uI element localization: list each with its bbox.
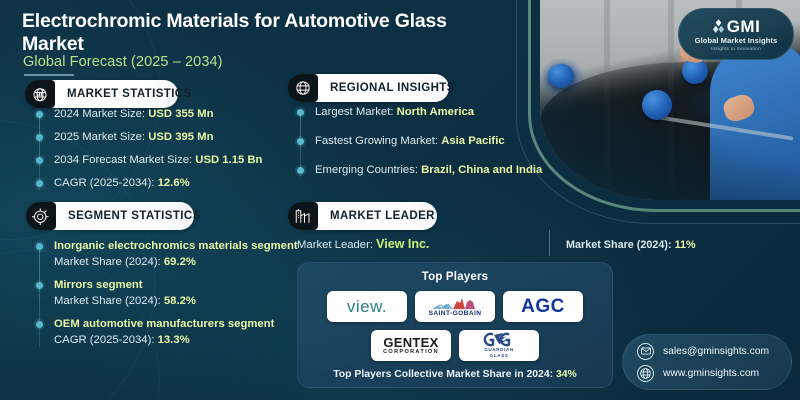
market-share-key: Market Share (2024): xyxy=(566,239,672,251)
subtitle-underline xyxy=(24,74,74,76)
logo-gentex-subtext: CORPORATION xyxy=(383,350,439,356)
top-players-title: Top Players xyxy=(298,271,612,283)
bullet-dot xyxy=(297,167,304,174)
contact-website-row[interactable]: www.gminsights.com xyxy=(637,365,791,382)
market-leader-share-row: Market Share (2024): 11% xyxy=(566,239,696,251)
infographic-canvas: GMI Global Market Insights Insights to I… xyxy=(0,0,800,400)
list-item: 2034 Forecast Market Size: USD 1.15 Bn xyxy=(36,152,286,168)
stat-value: Asia Pacific xyxy=(441,135,504,147)
market-leader-value-row: Market Leader: View Inc. xyxy=(297,237,429,251)
list-item: 2025 Market Size: USD 395 Mn xyxy=(36,129,286,145)
page-subtitle: Global Forecast (2025 – 2034) xyxy=(23,54,223,70)
logo-saint-gobain: SAINT-GOBAIN xyxy=(415,291,495,322)
bullet-dot xyxy=(36,282,43,289)
section-badge-label: MARKET STATISTICS xyxy=(55,88,192,100)
stat-key: Emerging Countries: xyxy=(315,164,418,176)
market-statistics-list: 2024 Market Size: USD 355 Mn 2025 Market… xyxy=(36,106,286,198)
stat-value: North America xyxy=(397,106,474,118)
logo-view-text: view. xyxy=(347,297,387,317)
logo-saint-gobain-text: SAINT-GOBAIN xyxy=(429,311,482,318)
list-item: Fastest Growing Market: Asia Pacific xyxy=(297,133,559,149)
bullet-dot xyxy=(36,243,43,250)
regional-insights-list: Largest Market: North America Fastest Gr… xyxy=(297,104,559,185)
segment-target-icon xyxy=(26,202,56,230)
list-item: CAGR (2025-2034): 12.6% xyxy=(36,175,286,191)
stat-key: Largest Market: xyxy=(315,106,393,118)
top-players-logo-row-2: GENTEX CORPORATION GUARDIAN GLASS xyxy=(298,330,612,361)
logo-gentex: GENTEX CORPORATION xyxy=(371,330,451,361)
contact-panel: sales@gminsights.com www.gminsights.com xyxy=(622,334,792,390)
list-item: 2024 Market Size: USD 355 Mn xyxy=(36,106,286,122)
stat-key: Market Share (2024): xyxy=(54,256,161,268)
factory-icon xyxy=(288,202,318,230)
list-item: Emerging Countries: Brazil, China and In… xyxy=(297,162,559,178)
logo-guardian-inner: GUARDIAN GLASS xyxy=(482,332,516,359)
top-players-logo-row-1: view. SAINT-GOBAIN AGC xyxy=(298,291,612,322)
section-badge-label: REGIONAL INSIGHTS xyxy=(318,82,455,94)
guardian-g-icon xyxy=(482,332,516,347)
list-item: Inorganic electrochromics materials segm… xyxy=(36,238,298,270)
section-badge-segment-statistics: SEGMENT STATISTICS xyxy=(27,202,194,230)
gmi-company-name: Global Market Insights xyxy=(695,36,778,45)
top-players-footer-key: Top Players Collective Market Share in 2… xyxy=(333,369,553,380)
section-badge-market-statistics: MARKET STATISTICS xyxy=(26,80,178,108)
logo-view: view. xyxy=(327,291,407,322)
list-item: Mirrors segment Market Share (2024): 58.… xyxy=(36,277,298,309)
gmi-logo-top: GMI xyxy=(712,18,761,35)
saint-gobain-skyline-icon xyxy=(431,296,479,310)
stat-value: 12.6% xyxy=(158,177,190,189)
stat-key: CAGR (2025-2034): xyxy=(54,177,154,189)
stat-key: CAGR (2025-2034): xyxy=(54,334,154,346)
market-leader-value: View Inc. xyxy=(376,237,429,251)
logo-gentex-text: GENTEX xyxy=(383,336,438,349)
logo-guardian-subtext: GLASS xyxy=(490,354,509,359)
stat-key: Market Share (2024): xyxy=(54,295,161,307)
stat-value: 13.3% xyxy=(158,334,190,346)
stat-value: 58.2% xyxy=(164,295,196,307)
envelope-icon xyxy=(637,343,654,360)
logo-gentex-inner: GENTEX CORPORATION xyxy=(383,336,439,356)
stat-value: USD 355 Mn xyxy=(148,108,213,120)
segment-title: Inorganic electrochromics materials segm… xyxy=(54,238,298,254)
stat-key: 2034 Forecast Market Size: xyxy=(54,154,192,166)
top-players-panel: Top Players view. SAINT-GOBAIN AGC xyxy=(297,262,613,388)
stat-key: 2024 Market Size: xyxy=(54,108,145,120)
top-players-footer-value: 34% xyxy=(556,369,577,380)
globe-icon xyxy=(637,365,654,382)
globe-icon xyxy=(288,74,318,102)
bullet-dot xyxy=(36,180,43,187)
stat-value: USD 1.15 Bn xyxy=(195,154,262,166)
stat-value: Brazil, China and India xyxy=(421,164,542,176)
top-players-footer: Top Players Collective Market Share in 2… xyxy=(298,369,612,380)
segment-title: Mirrors segment xyxy=(54,277,298,293)
market-statistics-icon xyxy=(25,80,55,108)
stat-value: USD 395 Mn xyxy=(148,131,213,143)
segment-title: OEM automotive manufacturers segment xyxy=(54,316,298,332)
section-badge-label: MARKET LEADER xyxy=(318,210,435,222)
contact-email: sales@gminsights.com xyxy=(663,346,769,357)
stat-key: 2025 Market Size: xyxy=(54,131,145,143)
bullet-dot xyxy=(36,321,43,328)
logo-agc-text: AGC xyxy=(521,296,565,318)
logo-saint-gobain-inner: SAINT-GOBAIN xyxy=(429,296,482,318)
list-item: Largest Market: North America xyxy=(297,104,559,120)
section-badge-label: SEGMENT STATISTICS xyxy=(56,210,201,222)
gmi-wordmark: GMI xyxy=(727,18,761,35)
list-item: OEM automotive manufacturers segment CAG… xyxy=(36,316,298,348)
bullet-dot xyxy=(297,138,304,145)
vertical-divider xyxy=(549,230,550,256)
segment-statistics-list: Inorganic electrochromics materials segm… xyxy=(36,238,298,355)
gmi-logo: GMI Global Market Insights Insights to I… xyxy=(678,8,794,60)
gmi-diamond-icon xyxy=(712,19,725,34)
stat-value: 69.2% xyxy=(164,256,196,268)
contact-email-row[interactable]: sales@gminsights.com xyxy=(637,343,791,360)
gmi-tagline: Insights to Innovation xyxy=(711,46,761,51)
logo-guardian-glass: GUARDIAN GLASS xyxy=(459,330,539,361)
bullet-dot xyxy=(36,111,43,118)
contact-website: www.gminsights.com xyxy=(663,368,759,379)
section-badge-market-leader: MARKET LEADER xyxy=(289,202,437,230)
market-share-value: 11% xyxy=(675,239,696,251)
section-badge-regional-insights: REGIONAL INSIGHTS xyxy=(289,74,449,102)
page-title: Electrochromic Materials for Automotive … xyxy=(22,10,492,55)
stat-key: Fastest Growing Market: xyxy=(315,135,438,147)
bullet-dot xyxy=(36,134,43,141)
bullet-dot xyxy=(297,109,304,116)
bullet-dot xyxy=(36,157,43,164)
logo-agc: AGC xyxy=(503,291,583,322)
market-leader-key: Market Leader: xyxy=(297,239,373,251)
